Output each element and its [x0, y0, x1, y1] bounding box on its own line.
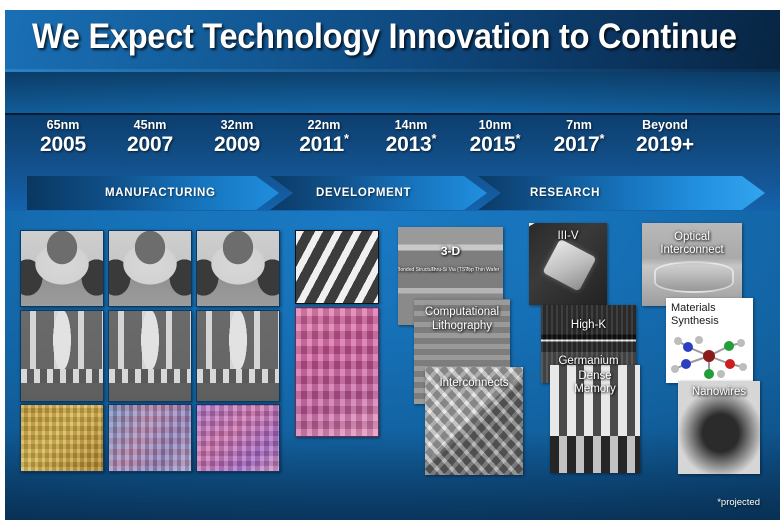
node-year-label: 2017* [531, 133, 627, 157]
roadmap-node-45nm: 45nm 2007 [102, 118, 198, 157]
node-nm-label: 45nm [102, 118, 198, 133]
phase-chevron-development: DEVELOPMENT [270, 176, 487, 210]
roadmap-node-labels: 65nm 2005 45nm 2007 32nm 2009 22nm 2011*… [5, 118, 780, 162]
node-nm-label: 22nm [276, 118, 372, 133]
caption-materials-synthesis-line2: Synthesis [666, 315, 753, 329]
footnote-projected: *projected [717, 497, 760, 508]
micrograph-65nm-interconnect [20, 310, 104, 402]
micrograph-22nm-trigate [295, 230, 379, 304]
roadmap-node-32nm: 32nm 2009 [189, 118, 285, 157]
caption-dense-memory-line1: Dense [550, 370, 640, 384]
micrograph-32nm-interconnect [196, 310, 280, 402]
slide-root: We Expect Technology Innovation to Conti… [5, 10, 780, 520]
node-nm-label: 10nm [447, 118, 543, 133]
micrograph-dense-memory: Dense Memory [550, 365, 640, 473]
micrograph-45nm-transistor [108, 230, 192, 307]
micrograph-interconnects: Interconnects [425, 367, 523, 475]
node-nm-label: 65nm [15, 118, 111, 133]
caption-interconnects: Interconnects [425, 377, 523, 391]
micrograph-45nm-interconnect [108, 310, 192, 402]
node-year-label: 2005 [15, 133, 111, 157]
title-band: We Expect Technology Innovation to Conti… [5, 10, 780, 72]
node-year-label: 2009 [189, 133, 285, 157]
caption-iii-v: III-V [529, 230, 607, 244]
node-year-label: 2019+ [617, 133, 713, 157]
phase-chevron-band: MANUFACTURING DEVELOPMENT RESEARCH [27, 176, 765, 210]
node-nm-label: 32nm [189, 118, 285, 133]
die-photo-65nm [20, 404, 104, 472]
die-photo-22nm [295, 307, 379, 437]
micrograph-32nm-transistor [196, 230, 280, 307]
phase-label: DEVELOPMENT [316, 187, 411, 199]
roadmap-node-14nm: 14nm 2013* [363, 118, 459, 157]
phase-label: MANUFACTURING [105, 187, 216, 199]
node-year-label: 2013* [363, 133, 459, 157]
caption-computational-lithography-line2: Lithography [414, 320, 510, 334]
roadmap-node-65nm: 65nm 2005 [15, 118, 111, 157]
caption-dense-memory-line2: Memory [550, 383, 640, 397]
node-year-label: 2011* [276, 133, 372, 157]
node-year-label: 2015* [447, 133, 543, 157]
caption-optical-interconnect-line1: Optical [642, 231, 742, 245]
caption-nanowires: Nanowires [678, 386, 760, 400]
die-photo-32nm [196, 404, 280, 472]
phase-chevron-manufacturing: MANUFACTURING [27, 176, 279, 210]
caption-germanium: Germanium [541, 355, 636, 369]
caption-top-thin-wafer: Top Thin Wafer [430, 267, 503, 273]
roadmap-node-beyond: Beyond 2019+ [617, 118, 713, 157]
roadmap-node-22nm: 22nm 2011* [276, 118, 372, 157]
caption-3d: 3-D [398, 245, 503, 259]
node-nm-label: Beyond [617, 118, 713, 133]
node-nm-label: 7nm [531, 118, 627, 133]
caption-materials-synthesis-line1: Materials [666, 302, 753, 316]
roadmap-node-10nm: 10nm 2015* [447, 118, 543, 157]
micrograph-65nm-transistor [20, 230, 104, 307]
micrograph-nanowires: Nanowires [678, 381, 760, 474]
die-photo-45nm [108, 404, 192, 472]
diagram-materials-synthesis: Materials Synthesis [666, 298, 753, 383]
phase-chevron-research: RESEARCH [478, 176, 765, 210]
caption-optical-interconnect-line2: Interconnect [642, 244, 742, 258]
micrograph-iii-v: III-V [529, 223, 607, 305]
roadmap-node-7nm: 7nm 2017* [531, 118, 627, 157]
micrograph-optical-interconnect: Optical Interconnect [642, 223, 742, 306]
page-title: We Expect Technology Innovation to Conti… [32, 17, 737, 57]
node-nm-label: 14nm [363, 118, 459, 133]
phase-label: RESEARCH [530, 187, 600, 199]
caption-computational-lithography-line1: Computational [414, 306, 510, 320]
molecule-model-icon [666, 334, 753, 379]
caption-high-k: High-K [541, 319, 636, 333]
node-year-label: 2007 [102, 133, 198, 157]
